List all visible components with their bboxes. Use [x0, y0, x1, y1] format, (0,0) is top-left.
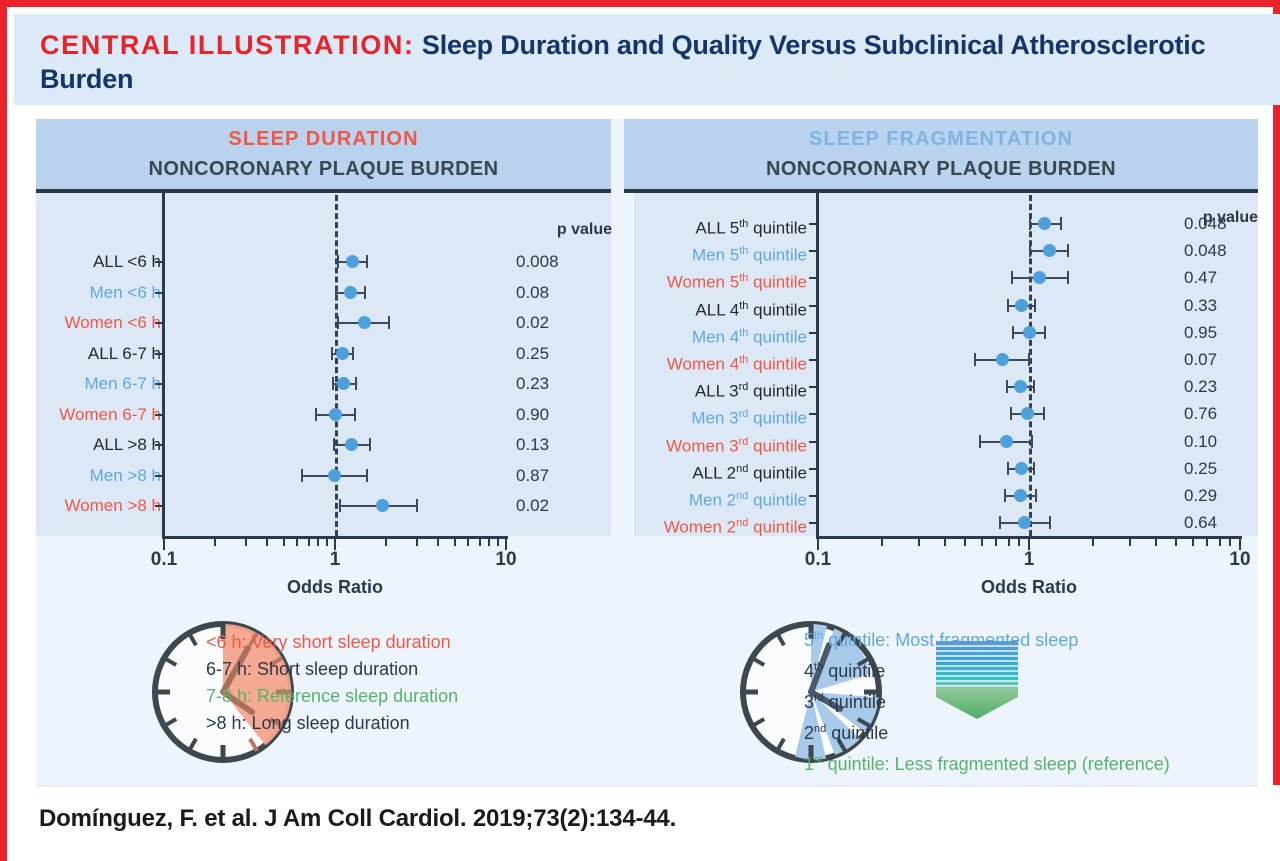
legend-sleep-fragmentation: 5th quintile: Most fragmented sleep4th q… — [624, 609, 1258, 785]
x-tick-minor — [1229, 539, 1231, 546]
x-tick-minor — [1192, 539, 1194, 546]
forest-row-label: Men 4th quintile — [692, 320, 807, 351]
x-tick-minor — [881, 539, 883, 546]
forest-row-label: Men 2nd quintile — [689, 483, 807, 514]
x-tick-label: 0.1 — [151, 549, 177, 571]
x-tick-minor — [1092, 539, 1094, 546]
forest-row: Men 4th quintile 0.95 — [624, 320, 1258, 346]
legend-item: 7-8 h: Reference sleep duration — [206, 683, 458, 710]
ci-cap-high — [1049, 516, 1051, 529]
x-tick-label: 10 — [1229, 549, 1250, 571]
legend-list-sleep-duration: <6 h: Very short sleep duration6-7 h: Sh… — [206, 629, 458, 737]
x-tick-minor — [245, 539, 247, 546]
odds-ratio-point — [1043, 244, 1056, 257]
ci-cap-high — [352, 347, 354, 360]
ci-cap-high — [1067, 271, 1069, 284]
panel-header-sleep-duration: SLEEP DURATION NONCORONARY PLAQUE BURDEN — [36, 119, 611, 193]
ci-cap-high — [1033, 380, 1035, 393]
ci-cap-low — [301, 469, 303, 482]
y-tick — [155, 353, 164, 355]
ci-cap-low — [1006, 380, 1008, 393]
forest-row-label: ALL 2nd quintile — [692, 456, 807, 487]
forest-row: Women 6-7 h 0.90 — [36, 402, 611, 428]
panel-title-sleep-fragmentation: SLEEP FRAGMENTATION — [624, 128, 1258, 151]
y-tick — [809, 305, 818, 307]
x-tick-minor — [1175, 539, 1177, 546]
ci-cap-low — [335, 286, 337, 299]
pvalue-cell: 0.76 — [1184, 401, 1258, 427]
forest-row: Women <6 h 0.02 — [36, 310, 611, 336]
figure-body: SLEEP DURATION NONCORONARY PLAQUE BURDEN… — [36, 119, 1258, 785]
forest-row: Women >8 h 0.02 — [36, 493, 611, 519]
y-tick — [809, 441, 818, 443]
ci-cap-low — [332, 377, 334, 390]
ci-cap-low — [337, 316, 339, 329]
pvalue-cell: 0.25 — [1184, 456, 1258, 482]
pvalue-cell: 0.23 — [1184, 374, 1258, 400]
forest-row-label: ALL >8 h — [93, 432, 161, 458]
pvalue-cell: 0.02 — [516, 310, 612, 336]
legend-item: 6-7 h: Short sleep duration — [206, 656, 458, 683]
x-tick-label: 0.1 — [805, 549, 831, 571]
pvalue-cell: 0.90 — [516, 402, 612, 428]
y-tick — [809, 386, 818, 388]
ci-cap-low — [1007, 299, 1009, 312]
y-tick — [155, 414, 164, 416]
odds-ratio-point — [1014, 380, 1027, 393]
y-tick — [155, 505, 164, 507]
ci-cap-high — [1033, 462, 1035, 475]
ci-cap-high — [364, 286, 366, 299]
x-tick-minor — [1206, 539, 1208, 546]
ci-cap-high — [1031, 435, 1033, 448]
odds-ratio-point — [1023, 326, 1036, 339]
x-tick-minor — [296, 539, 298, 546]
x-tick-minor — [944, 539, 946, 546]
y-tick — [809, 413, 818, 415]
odds-ratio-point — [344, 286, 357, 299]
pvalue-cell: 0.10 — [1184, 429, 1258, 455]
x-tick-minor — [995, 539, 997, 546]
forest-row: Men 6-7 h 0.23 — [36, 371, 611, 397]
ci-cap-low — [1029, 244, 1031, 257]
x-tick-minor — [488, 539, 490, 546]
y-tick — [155, 475, 164, 477]
page-title: CENTRAL ILLUSTRATION: Sleep Duration and… — [40, 28, 1258, 96]
ci-cap-low — [974, 353, 976, 366]
pvalue-column-header: p value — [516, 221, 612, 239]
x-axis-title: Odds Ratio — [818, 577, 1240, 598]
y-tick — [155, 292, 164, 294]
forest-row-label: ALL <6 h — [93, 249, 161, 275]
odds-ratio-point — [1000, 435, 1013, 448]
panel-subtitle-sleep-fragmentation: NONCORONARY PLAQUE BURDEN — [624, 158, 1258, 181]
x-tick-minor — [1155, 539, 1157, 546]
forest-row: Women 3rd quintile 0.10 — [624, 429, 1258, 455]
forest-row: Women 5th quintile 0.47 — [624, 265, 1258, 291]
odds-ratio-point — [1015, 299, 1028, 312]
ci-cap-high — [388, 316, 390, 329]
x-tick-minor — [479, 539, 481, 546]
forest-row: ALL >8 h 0.13 — [36, 432, 611, 458]
y-tick — [155, 444, 164, 446]
forest-row-label: ALL 4th quintile — [695, 293, 807, 324]
odds-ratio-point — [337, 377, 350, 390]
pvalue-cell: 0.47 — [1184, 265, 1258, 291]
central-illustration-label: CENTRAL ILLUSTRATION: — [40, 30, 415, 60]
x-tick-minor — [918, 539, 920, 546]
forest-plot-sleep-duration: 0.1110Odds Ratiop value ALL <6 h 0.008 M… — [36, 193, 611, 659]
forest-row: ALL <6 h 0.008 — [36, 249, 611, 275]
ci-cap-high — [1035, 489, 1037, 502]
forest-row: Men 2nd quintile 0.29 — [624, 483, 1258, 509]
ci-cap-low — [315, 408, 317, 421]
forest-row-label: Women 2nd quintile — [664, 510, 807, 541]
pvalue-cell: 0.29 — [1184, 483, 1258, 509]
central-illustration-figure: CENTRAL ILLUSTRATION: Sleep Duration and… — [0, 0, 1280, 861]
y-tick — [809, 495, 818, 497]
forest-row-label: Women 4th quintile — [667, 347, 807, 378]
ci-cap-low — [1010, 407, 1012, 420]
odds-ratio-point — [358, 316, 371, 329]
ci-cap-low — [979, 435, 981, 448]
y-tick — [809, 277, 818, 279]
forest-row: Women 2nd quintile 0.64 — [624, 510, 1258, 536]
odds-ratio-point — [1018, 516, 1031, 529]
forest-row-label: Women >8 h — [64, 493, 161, 519]
odds-ratio-point — [336, 347, 349, 360]
x-axis-title: Odds Ratio — [164, 577, 506, 598]
x-tick-minor — [497, 539, 499, 546]
pvalue-cell: 0.33 — [1184, 293, 1258, 319]
forest-row-label: Women 5th quintile — [667, 265, 807, 296]
forest-row-label: Men 3rd quintile — [691, 401, 807, 432]
odds-ratio-point — [328, 469, 341, 482]
citation: Domínguez, F. et al. J Am Coll Cardiol. … — [39, 805, 676, 833]
forest-row-label: ALL 5th quintile — [695, 211, 807, 242]
x-tick-minor — [308, 539, 310, 546]
ci-cap-low — [1004, 489, 1006, 502]
odds-ratio-point — [996, 353, 1009, 366]
ci-cap-high — [366, 469, 368, 482]
x-tick-minor — [981, 539, 983, 546]
forest-row: Men <6 h 0.08 — [36, 280, 611, 306]
pvalue-cell: 0.048 — [1184, 238, 1258, 264]
odds-ratio-point — [1021, 407, 1034, 420]
pvalue-cell: 0.048 — [1184, 211, 1258, 237]
y-tick — [155, 383, 164, 385]
pvalue-cell: 0.23 — [516, 371, 612, 397]
y-tick — [809, 223, 818, 225]
ci-cap-high — [1067, 244, 1069, 257]
x-tick-minor — [266, 539, 268, 546]
ci-cap-high — [1043, 407, 1045, 420]
ci-cap-high — [1060, 217, 1062, 230]
forest-row-label: Women 3rd quintile — [666, 429, 807, 460]
odds-ratio-point — [345, 438, 358, 451]
forest-row: Women 4th quintile 0.07 — [624, 347, 1258, 373]
y-tick — [155, 261, 164, 263]
ci-cap-low — [331, 347, 333, 360]
forest-row-label: Women <6 h — [64, 310, 161, 336]
forest-row: ALL 6-7 h 0.25 — [36, 341, 611, 367]
pvalue-cell: 0.25 — [516, 341, 612, 367]
forest-row-label: ALL 3rd quintile — [695, 374, 807, 405]
pvalue-cell: 0.008 — [516, 249, 612, 275]
odds-ratio-point — [376, 499, 389, 512]
figure-footer: Domínguez, F. et al. J Am Coll Cardiol. … — [7, 785, 1280, 861]
forest-row: Men 3rd quintile 0.76 — [624, 401, 1258, 427]
legend-sleep-duration: <6 h: Very short sleep duration6-7 h: Sh… — [36, 609, 611, 785]
odds-ratio-point — [1014, 489, 1027, 502]
x-tick-minor — [317, 539, 319, 546]
x-tick-minor — [416, 539, 418, 546]
ci-cap-high — [1044, 326, 1046, 339]
legend-item: >8 h: Long sleep duration — [206, 710, 458, 737]
forest-row-label: Men 6-7 h — [84, 371, 161, 397]
footer-divider — [36, 785, 1258, 787]
forest-row-label: Women 6-7 h — [59, 402, 161, 428]
x-tick-label: 10 — [495, 549, 516, 571]
x-tick-label: 1 — [1024, 549, 1035, 571]
figure-title-band: CENTRAL ILLUSTRATION: Sleep Duration and… — [14, 14, 1280, 105]
odds-ratio-point — [1033, 271, 1046, 284]
ci-cap-high — [1034, 299, 1036, 312]
pvalue-cell: 0.64 — [1184, 510, 1258, 536]
ci-cap-low — [1011, 271, 1013, 284]
ci-cap-low — [999, 516, 1001, 529]
pvalue-cell: 0.07 — [1184, 347, 1258, 373]
forest-row-label: Men 5th quintile — [692, 238, 807, 269]
pvalue-cell: 0.87 — [516, 463, 612, 489]
pvalue-cell: 0.95 — [1184, 320, 1258, 346]
forest-row-label: ALL 6-7 h — [88, 341, 161, 367]
x-tick-minor — [283, 539, 285, 546]
x-tick-minor — [1129, 539, 1131, 546]
x-tick-minor — [1008, 539, 1010, 546]
pvalue-cell: 0.08 — [516, 280, 612, 306]
y-tick — [809, 359, 818, 361]
ci-cap-high — [416, 499, 418, 512]
y-tick — [809, 468, 818, 470]
x-tick-minor — [467, 539, 469, 546]
forest-row-label: Men >8 h — [90, 463, 161, 489]
pvalue-cell: 0.02 — [516, 493, 612, 519]
pvalue-cell: 0.13 — [516, 432, 612, 458]
y-tick — [809, 332, 818, 334]
forest-row: Men >8 h 0.87 — [36, 463, 611, 489]
legend-item: 1st quintile: Less fragmented sleep (ref… — [804, 747, 1170, 778]
x-tick-minor — [964, 539, 966, 546]
forest-row: ALL 5th quintile 0.048 — [624, 211, 1258, 237]
x-tick-minor — [214, 539, 216, 546]
ci-cap-high — [366, 255, 368, 268]
ci-cap-high — [354, 408, 356, 421]
forest-plot-sleep-fragmentation: 0.1110Odds Ratiop value ALL 5th quintile… — [624, 193, 1258, 659]
x-tick-minor — [1018, 539, 1020, 546]
ci-cap-low — [337, 255, 339, 268]
y-tick — [809, 250, 818, 252]
panel-title-sleep-duration: SLEEP DURATION — [36, 128, 611, 151]
panel-subtitle-sleep-duration: NONCORONARY PLAQUE BURDEN — [36, 158, 611, 181]
y-tick — [155, 322, 164, 324]
ci-cap-high — [369, 438, 371, 451]
fragmentation-gradient-arrow — [936, 641, 1018, 724]
x-tick-minor — [385, 539, 387, 546]
ci-cap-high — [1028, 353, 1030, 366]
ci-cap-low — [1029, 217, 1031, 230]
ci-cap-low — [339, 499, 341, 512]
forest-row: ALL 3rd quintile 0.23 — [624, 374, 1258, 400]
y-tick — [809, 522, 818, 524]
odds-ratio-point — [329, 408, 342, 421]
panel-header-sleep-fragmentation: SLEEP FRAGMENTATION NONCORONARY PLAQUE B… — [624, 119, 1258, 193]
ci-cap-low — [1012, 326, 1014, 339]
legend-item: <6 h: Very short sleep duration — [206, 629, 458, 656]
forest-row: ALL 4th quintile 0.33 — [624, 293, 1258, 319]
odds-ratio-point — [1038, 217, 1051, 230]
x-tick-minor — [1219, 539, 1221, 546]
ci-cap-low — [1007, 462, 1009, 475]
x-tick-label: 1 — [330, 549, 341, 571]
forest-row: Men 5th quintile 0.048 — [624, 238, 1258, 264]
x-tick-minor — [326, 539, 328, 546]
odds-ratio-point — [1015, 462, 1028, 475]
ci-cap-low — [333, 438, 335, 451]
forest-row: ALL 2nd quintile 0.25 — [624, 456, 1258, 482]
odds-ratio-point — [346, 255, 359, 268]
x-tick-minor — [454, 539, 456, 546]
forest-row-label: Men <6 h — [90, 280, 161, 306]
ci-cap-high — [355, 377, 357, 390]
x-tick-minor — [437, 539, 439, 546]
